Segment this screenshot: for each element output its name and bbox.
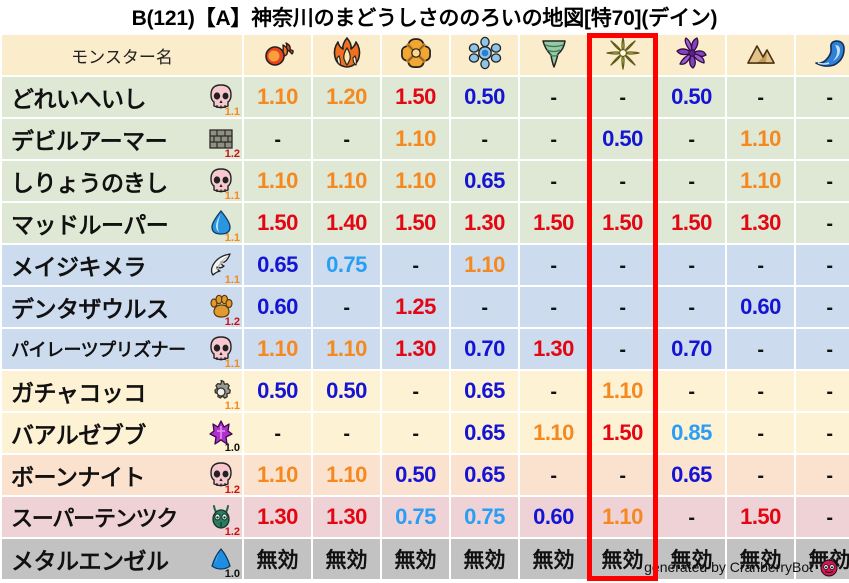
monster-type-badge: 1.1 xyxy=(204,206,238,240)
resistance-value-cell: - xyxy=(796,203,849,243)
resistance-value: - xyxy=(481,297,487,319)
resistance-value-cell: - xyxy=(796,287,849,327)
resistance-value: - xyxy=(757,87,763,109)
cranberry-bot-icon xyxy=(819,557,839,577)
footer-text: generated by CranberryBot xyxy=(644,559,813,575)
resistance-value-cell: - xyxy=(244,119,311,159)
water-icon xyxy=(813,36,847,70)
resistance-value-cell: 1.30 xyxy=(313,497,380,537)
resistance-value-cell: 0.50 xyxy=(589,119,656,159)
resistance-value-cell: 0.65 xyxy=(244,245,311,285)
table-row: ボーンナイト1.21.101.100.500.65--0.65-- xyxy=(2,455,849,495)
resistance-value: - xyxy=(826,465,832,487)
resistance-value: 1.30 xyxy=(533,336,574,361)
resistance-value: - xyxy=(826,381,832,403)
resistance-value: 1.50 xyxy=(740,504,781,529)
resistance-value-cell: 1.10 xyxy=(244,161,311,201)
header-element-7[interactable] xyxy=(658,35,725,75)
resistance-value-cell: - xyxy=(658,119,725,159)
resistance-value: 1.25 xyxy=(395,294,436,319)
table-row: デビルアーマー1.2--1.10--0.50-1.10- xyxy=(2,119,849,159)
resistance-value-cell: - xyxy=(796,245,849,285)
monster-name-label: ボーンナイト xyxy=(11,458,145,492)
resistance-value-cell: 0.60 xyxy=(244,287,311,327)
flame-icon xyxy=(330,36,364,70)
monster-multiplier: 1.1 xyxy=(225,401,240,412)
resistance-value: - xyxy=(619,255,625,277)
monster-type-badge: 1.1 xyxy=(204,374,238,408)
resistance-value: - xyxy=(826,507,832,529)
table-row: しりょうのきし1.11.101.101.100.65---1.10- xyxy=(2,161,849,201)
resistance-value: - xyxy=(826,297,832,319)
monster-name-cell[interactable]: バアルゼブブ1.0 xyxy=(2,413,242,453)
resistance-value-cell: 0.50 xyxy=(451,77,518,117)
monster-name-label: スーパーテンツク xyxy=(11,501,177,533)
resistance-value: - xyxy=(550,171,556,193)
resistance-value-cell: 1.10 xyxy=(244,77,311,117)
header-element-9[interactable] xyxy=(796,35,849,75)
resistance-value: - xyxy=(619,465,625,487)
resistance-value-cell: 1.30 xyxy=(451,203,518,243)
resistance-value-cell: 1.10 xyxy=(589,371,656,411)
resistance-value: 0.65 xyxy=(464,462,505,487)
resistance-value-cell: - xyxy=(796,413,849,453)
table-row: メイジキメラ1.10.650.75-1.10----- xyxy=(2,245,849,285)
resistance-value: - xyxy=(826,423,832,445)
resistance-value-cell: 0.50 xyxy=(313,371,380,411)
resistance-value-cell: - xyxy=(727,329,794,369)
resistance-value-cell: 1.10 xyxy=(313,161,380,201)
resistance-value-cell: - xyxy=(658,245,725,285)
monster-name-cell[interactable]: しりょうのきし1.1 xyxy=(2,161,242,201)
resistance-value-cell: 0.65 xyxy=(451,371,518,411)
resistance-value: - xyxy=(550,465,556,487)
monster-multiplier: 1.2 xyxy=(225,485,240,496)
resistance-value: 0.70 xyxy=(464,336,505,361)
resistance-value-cell: 0.50 xyxy=(658,77,725,117)
resistance-value-cell: - xyxy=(520,371,587,411)
resistance-value-cell: 1.50 xyxy=(727,497,794,537)
fireball-icon xyxy=(261,36,295,70)
resistance-value: - xyxy=(481,129,487,151)
resistance-value: 1.40 xyxy=(326,210,367,235)
resistance-value: 1.50 xyxy=(671,210,712,235)
resistance-value: 0.65 xyxy=(671,462,712,487)
header-element-8[interactable] xyxy=(727,35,794,75)
resistance-value-cell: 1.30 xyxy=(244,497,311,537)
resistance-value: 1.10 xyxy=(257,462,298,487)
resistance-value: 0.85 xyxy=(671,420,712,445)
monster-multiplier: 1.1 xyxy=(225,359,240,370)
resistance-value: - xyxy=(343,297,349,319)
resistance-value: 0.70 xyxy=(671,336,712,361)
resistance-value-cell: - xyxy=(727,77,794,117)
monster-multiplier: 1.1 xyxy=(225,233,240,244)
resistance-value-cell: - xyxy=(727,245,794,285)
monster-name-label: ガチャコッコ xyxy=(11,374,146,408)
resistance-value: - xyxy=(274,423,280,445)
header-element-2[interactable] xyxy=(313,35,380,75)
monster-name-label: デンタザウルス xyxy=(11,290,169,324)
resistance-value-cell: - xyxy=(727,371,794,411)
monster-type-badge: 1.0 xyxy=(204,416,238,450)
resistance-value-cell: 1.50 xyxy=(244,203,311,243)
table-row: ガチャコッコ1.10.500.50-0.65-1.10--- xyxy=(2,371,849,411)
resistance-value: - xyxy=(412,381,418,403)
resistance-value-cell: - xyxy=(796,329,849,369)
resistance-value-cell: 0.65 xyxy=(451,161,518,201)
resistance-value: - xyxy=(412,423,418,445)
resistance-value: 0.60 xyxy=(257,294,298,319)
resistance-value: 無効 xyxy=(326,549,368,572)
resistance-value-cell: 1.50 xyxy=(520,203,587,243)
resistance-value: - xyxy=(757,339,763,361)
page-title: B(121)【A】神奈川のまどうしさののろいの地図[特70](デイン) xyxy=(0,0,849,33)
resistance-value: 1.10 xyxy=(326,462,367,487)
resistance-value-cell: 1.10 xyxy=(382,119,449,159)
wind-icon xyxy=(537,36,571,70)
resistance-value-cell: - xyxy=(520,161,587,201)
table-row: マッドルーパー1.11.501.401.501.301.501.501.501.… xyxy=(2,203,849,243)
resistance-value: 1.10 xyxy=(326,336,367,361)
resistance-value-cell: - xyxy=(658,287,725,327)
resistance-value: 1.10 xyxy=(740,168,781,193)
resistance-value: 1.50 xyxy=(395,210,436,235)
header-element-4[interactable] xyxy=(451,35,518,75)
resistance-value: 1.10 xyxy=(602,504,643,529)
resistance-value: 1.50 xyxy=(257,210,298,235)
light-icon xyxy=(606,36,640,70)
header-element-6[interactable] xyxy=(589,35,656,75)
resistance-value: 0.65 xyxy=(464,168,505,193)
resistance-value-cell: 1.30 xyxy=(727,203,794,243)
resistance-value: 無効 xyxy=(395,549,437,572)
resistance-value-cell: - xyxy=(313,413,380,453)
resistance-value-cell: - xyxy=(382,245,449,285)
monster-multiplier: 1.2 xyxy=(225,317,240,328)
resistance-value-cell: 1.50 xyxy=(382,203,449,243)
header-element-3[interactable] xyxy=(382,35,449,75)
resistance-value-cell: 1.20 xyxy=(313,77,380,117)
monster-type-badge: 1.2 xyxy=(204,122,238,156)
resistance-value-cell: 0.75 xyxy=(451,497,518,537)
resistance-value-cell: 0.75 xyxy=(313,245,380,285)
resistance-value-cell: 1.10 xyxy=(313,329,380,369)
resistance-value: 1.10 xyxy=(257,336,298,361)
resistance-value-cell: 0.70 xyxy=(658,329,725,369)
resistance-value: 無効 xyxy=(602,549,644,572)
resistance-value-cell: - xyxy=(658,497,725,537)
monster-name-cell[interactable]: デンタザウルス1.2 xyxy=(2,287,242,327)
resistance-value: 0.65 xyxy=(464,378,505,403)
ice-icon xyxy=(468,36,502,70)
monster-name-cell[interactable]: メタルエンゼル1.0 xyxy=(2,539,242,579)
resistance-value: 1.20 xyxy=(326,84,367,109)
resistance-value-cell: 無効 xyxy=(520,539,587,579)
resistance-value: 1.30 xyxy=(740,210,781,235)
table-row: デンタザウルス1.20.60-1.25----0.60- xyxy=(2,287,849,327)
resistance-value: 無効 xyxy=(533,549,575,572)
resistance-value: - xyxy=(550,87,556,109)
monster-type-badge: 1.1 xyxy=(204,80,238,114)
resistance-value-cell: - xyxy=(796,77,849,117)
table-row: どれいへいし1.11.101.201.500.50--0.50-- xyxy=(2,77,849,117)
resistance-value-cell: - xyxy=(796,497,849,537)
resistance-value-cell: 1.25 xyxy=(382,287,449,327)
resistance-value-cell: 0.60 xyxy=(520,497,587,537)
resistance-value: 1.10 xyxy=(464,252,505,277)
resistance-value-cell: - xyxy=(658,371,725,411)
resistance-value-cell: 1.10 xyxy=(520,413,587,453)
resistance-value: - xyxy=(688,381,694,403)
resistance-value: 1.10 xyxy=(533,420,574,445)
resistance-value: 無効 xyxy=(257,549,299,572)
resistance-table: モンスター名どれいへいし1.11.101.201.500.50--0.50--デ… xyxy=(0,33,849,581)
resistance-value: 1.50 xyxy=(602,210,643,235)
resistance-value: - xyxy=(826,171,832,193)
resistance-value: 0.50 xyxy=(395,462,436,487)
resistance-value-cell: 1.10 xyxy=(727,161,794,201)
resistance-value-cell: 無効 xyxy=(244,539,311,579)
resistance-value: 0.65 xyxy=(464,420,505,445)
table-row: バアルゼブブ1.0---0.651.101.500.85-- xyxy=(2,413,849,453)
monster-multiplier: 1.1 xyxy=(225,191,240,202)
resistance-value-cell: - xyxy=(520,77,587,117)
monster-type-badge: 1.2 xyxy=(204,500,238,534)
monster-type-badge: 1.1 xyxy=(204,164,238,198)
header-monster-name: モンスター名 xyxy=(2,35,242,75)
resistance-chart-page: B(121)【A】神奈川のまどうしさののろいの地図[特70](デイン) モンスタ… xyxy=(0,0,849,583)
resistance-value: - xyxy=(619,87,625,109)
resistance-value-cell: 1.50 xyxy=(589,203,656,243)
resistance-value-cell: - xyxy=(658,161,725,201)
resistance-value: - xyxy=(757,423,763,445)
monster-type-badge: 1.1 xyxy=(204,248,238,282)
resistance-value-cell: - xyxy=(589,161,656,201)
resistance-value: 0.75 xyxy=(326,252,367,277)
monster-type-badge: 1.1 xyxy=(204,332,238,366)
resistance-value-cell: - xyxy=(796,161,849,201)
resistance-value: 1.10 xyxy=(740,126,781,151)
monster-name-label: バアルゼブブ xyxy=(11,416,146,450)
resistance-value: 0.50 xyxy=(326,378,367,403)
resistance-value: - xyxy=(688,297,694,319)
resistance-value: 0.75 xyxy=(464,504,505,529)
resistance-value-cell: - xyxy=(313,287,380,327)
resistance-value: 1.10 xyxy=(257,168,298,193)
resistance-value: - xyxy=(343,129,349,151)
resistance-value-cell: - xyxy=(451,119,518,159)
resistance-value-cell: 1.10 xyxy=(589,497,656,537)
resistance-value-cell: 無効 xyxy=(382,539,449,579)
resistance-value: 1.30 xyxy=(326,504,367,529)
resistance-value-cell: - xyxy=(589,77,656,117)
monster-multiplier: 1.2 xyxy=(225,527,240,538)
resistance-value: 1.30 xyxy=(395,336,436,361)
monster-type-badge: 1.2 xyxy=(204,290,238,324)
resistance-value-cell: 0.60 xyxy=(727,287,794,327)
resistance-value-cell: 1.10 xyxy=(727,119,794,159)
footer-credit: generated by CranberryBot xyxy=(644,557,839,577)
resistance-value: 0.50 xyxy=(257,378,298,403)
monster-type-badge: 1.2 xyxy=(204,458,238,492)
resistance-value-cell: 0.70 xyxy=(451,329,518,369)
resistance-value: 0.60 xyxy=(533,504,574,529)
monster-name-cell[interactable]: マッドルーパー1.1 xyxy=(2,203,242,243)
resistance-value: - xyxy=(826,255,832,277)
table-row: パイレーツプリズナー1.11.101.101.300.701.30-0.70-- xyxy=(2,329,849,369)
resistance-value: 1.10 xyxy=(395,168,436,193)
resistance-value: 1.10 xyxy=(395,126,436,151)
monster-name-label: メイジキメラ xyxy=(11,248,146,282)
resistance-value-cell: - xyxy=(313,119,380,159)
resistance-value-cell: - xyxy=(520,455,587,495)
resistance-value: 1.50 xyxy=(533,210,574,235)
monster-multiplier: 1.0 xyxy=(225,569,240,580)
resistance-value-cell: - xyxy=(520,287,587,327)
resistance-value: - xyxy=(757,381,763,403)
monster-name-label: マッドルーパー xyxy=(11,206,168,240)
resistance-value-cell: - xyxy=(796,455,849,495)
resistance-value-cell: - xyxy=(796,119,849,159)
resistance-value-cell: - xyxy=(589,329,656,369)
resistance-value-cell: 0.75 xyxy=(382,497,449,537)
resistance-value: - xyxy=(688,255,694,277)
resistance-value-cell: - xyxy=(727,413,794,453)
resistance-value: 無効 xyxy=(464,549,506,572)
explosion-icon xyxy=(399,36,433,70)
resistance-value: - xyxy=(550,255,556,277)
resistance-value-cell: 1.10 xyxy=(244,329,311,369)
resistance-value-cell: - xyxy=(727,455,794,495)
resistance-value-cell: - xyxy=(520,245,587,285)
resistance-value-cell: 0.50 xyxy=(382,455,449,495)
resistance-value: 1.50 xyxy=(602,420,643,445)
resistance-value-cell: 0.85 xyxy=(658,413,725,453)
resistance-value: 0.75 xyxy=(395,504,436,529)
resistance-value: - xyxy=(550,129,556,151)
resistance-value: 1.10 xyxy=(602,378,643,403)
resistance-value: 1.30 xyxy=(464,210,505,235)
resistance-value-cell: 1.10 xyxy=(244,455,311,495)
resistance-value-cell: 1.50 xyxy=(658,203,725,243)
monster-name-cell[interactable]: デビルアーマー1.2 xyxy=(2,119,242,159)
resistance-value: - xyxy=(688,129,694,151)
monster-multiplier: 1.1 xyxy=(225,107,240,118)
resistance-value: 0.65 xyxy=(257,252,298,277)
dark-icon xyxy=(675,36,709,70)
monster-name-label: パイレーツプリズナー xyxy=(11,336,186,362)
resistance-value: 1.30 xyxy=(257,504,298,529)
monster-name-cell[interactable]: メイジキメラ1.1 xyxy=(2,245,242,285)
resistance-value: - xyxy=(688,507,694,529)
resistance-value-cell: 0.65 xyxy=(451,413,518,453)
monster-name-cell[interactable]: どれいへいし1.1 xyxy=(2,77,242,117)
resistance-value: - xyxy=(619,171,625,193)
monster-name-label: デビルアーマー xyxy=(11,122,167,156)
resistance-value-cell: 0.50 xyxy=(244,371,311,411)
resistance-value: 1.10 xyxy=(257,84,298,109)
resistance-value-cell: - xyxy=(382,413,449,453)
resistance-value-cell: - xyxy=(382,371,449,411)
resistance-value-cell: - xyxy=(451,287,518,327)
header-element-5[interactable] xyxy=(520,35,587,75)
header-element-1[interactable] xyxy=(244,35,311,75)
resistance-value-cell: 0.65 xyxy=(451,455,518,495)
resistance-value-cell: 1.30 xyxy=(520,329,587,369)
resistance-value-cell: 無効 xyxy=(313,539,380,579)
resistance-value: - xyxy=(757,255,763,277)
resistance-value: - xyxy=(826,213,832,235)
monster-multiplier: 1.0 xyxy=(225,443,240,454)
resistance-value: - xyxy=(688,171,694,193)
resistance-value: 0.50 xyxy=(464,84,505,109)
monster-name-cell[interactable]: スーパーテンツク1.2 xyxy=(2,497,242,537)
resistance-value-cell: 1.30 xyxy=(382,329,449,369)
monster-name-label: しりょうのきし xyxy=(11,164,168,198)
table-header-row: モンスター名 xyxy=(2,35,849,75)
resistance-value: - xyxy=(619,297,625,319)
monster-name-cell[interactable]: ボーンナイト1.2 xyxy=(2,455,242,495)
resistance-value-cell: 0.65 xyxy=(658,455,725,495)
monster-name-cell[interactable]: パイレーツプリズナー1.1 xyxy=(2,329,242,369)
resistance-value-cell: - xyxy=(244,413,311,453)
resistance-value: - xyxy=(343,423,349,445)
earth-icon xyxy=(744,36,778,70)
monster-multiplier: 1.1 xyxy=(225,275,240,286)
resistance-value: 0.60 xyxy=(740,294,781,319)
resistance-value-cell: - xyxy=(589,455,656,495)
resistance-value: - xyxy=(757,465,763,487)
resistance-value-cell: - xyxy=(520,119,587,159)
resistance-value-cell: 1.10 xyxy=(451,245,518,285)
table-row: スーパーテンツク1.21.301.300.750.750.601.10-1.50… xyxy=(2,497,849,537)
resistance-value: - xyxy=(826,129,832,151)
resistance-value: - xyxy=(550,297,556,319)
monster-type-badge: 1.0 xyxy=(204,542,238,576)
resistance-value-cell: - xyxy=(589,245,656,285)
resistance-value-cell: 無効 xyxy=(451,539,518,579)
resistance-value-cell: 1.10 xyxy=(382,161,449,201)
resistance-value: - xyxy=(412,255,418,277)
resistance-value: 1.10 xyxy=(326,168,367,193)
resistance-value: - xyxy=(826,339,832,361)
resistance-value-cell: 1.50 xyxy=(589,413,656,453)
monster-name-cell[interactable]: ガチャコッコ1.1 xyxy=(2,371,242,411)
resistance-value: - xyxy=(826,87,832,109)
resistance-value: - xyxy=(619,339,625,361)
resistance-value: 1.50 xyxy=(395,84,436,109)
monster-name-label: どれいへいし xyxy=(11,80,146,114)
resistance-value: - xyxy=(550,381,556,403)
resistance-value-cell: - xyxy=(796,371,849,411)
resistance-value: 0.50 xyxy=(671,84,712,109)
monster-multiplier: 1.2 xyxy=(225,149,240,160)
resistance-value: - xyxy=(274,129,280,151)
resistance-value-cell: 1.10 xyxy=(313,455,380,495)
resistance-value-cell: 1.40 xyxy=(313,203,380,243)
resistance-value-cell: 1.50 xyxy=(382,77,449,117)
resistance-value-cell: - xyxy=(589,287,656,327)
monster-name-label: メタルエンゼル xyxy=(11,542,169,576)
resistance-value: 0.50 xyxy=(602,126,643,151)
